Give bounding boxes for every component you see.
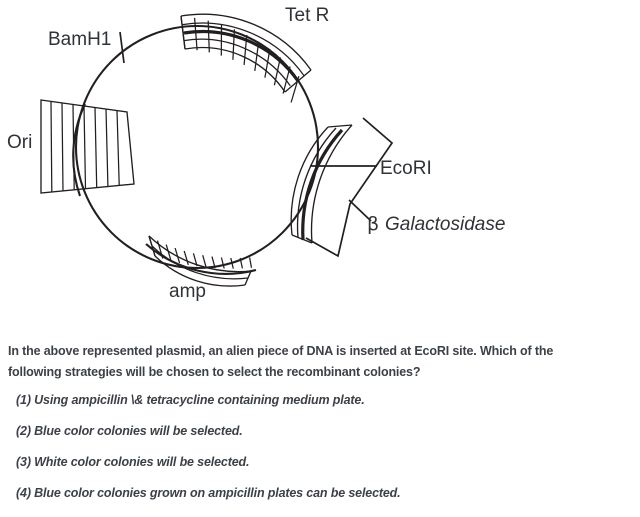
option-2[interactable]: (2) Blue color colonies will be selected… [0,424,640,439]
beta-galactosidase-region [291,125,352,243]
options-list: (1) Using ampicillin \& tetracycline con… [0,383,640,501]
label-tetr: Tet R [285,5,329,26]
label-ecori: EcoRI [380,158,432,179]
label-beta-symbol: β [367,213,379,235]
tetr-region [181,14,311,102]
bamh1-tick [120,32,124,63]
question-block: In the above represented plasmid, an ali… [0,325,640,517]
option-4[interactable]: (4) Blue color colonies grown on ampicil… [0,486,640,501]
ori-region [41,100,134,196]
label-amp: amp [169,281,206,302]
plasmid-diagram: BamH1 Tet R Ori EcoRI β Galactosidase am… [0,0,640,325]
label-galactosidase: Galactosidase [385,214,505,235]
question-text: In the above represented plasmid, an ali… [0,325,640,383]
label-ori: Ori [7,132,32,153]
option-1[interactable]: (1) Using ampicillin \& tetracycline con… [0,393,640,408]
option-3[interactable]: (3) White color colonies will be selecte… [0,455,640,470]
label-bamh1: BamH1 [48,29,111,50]
